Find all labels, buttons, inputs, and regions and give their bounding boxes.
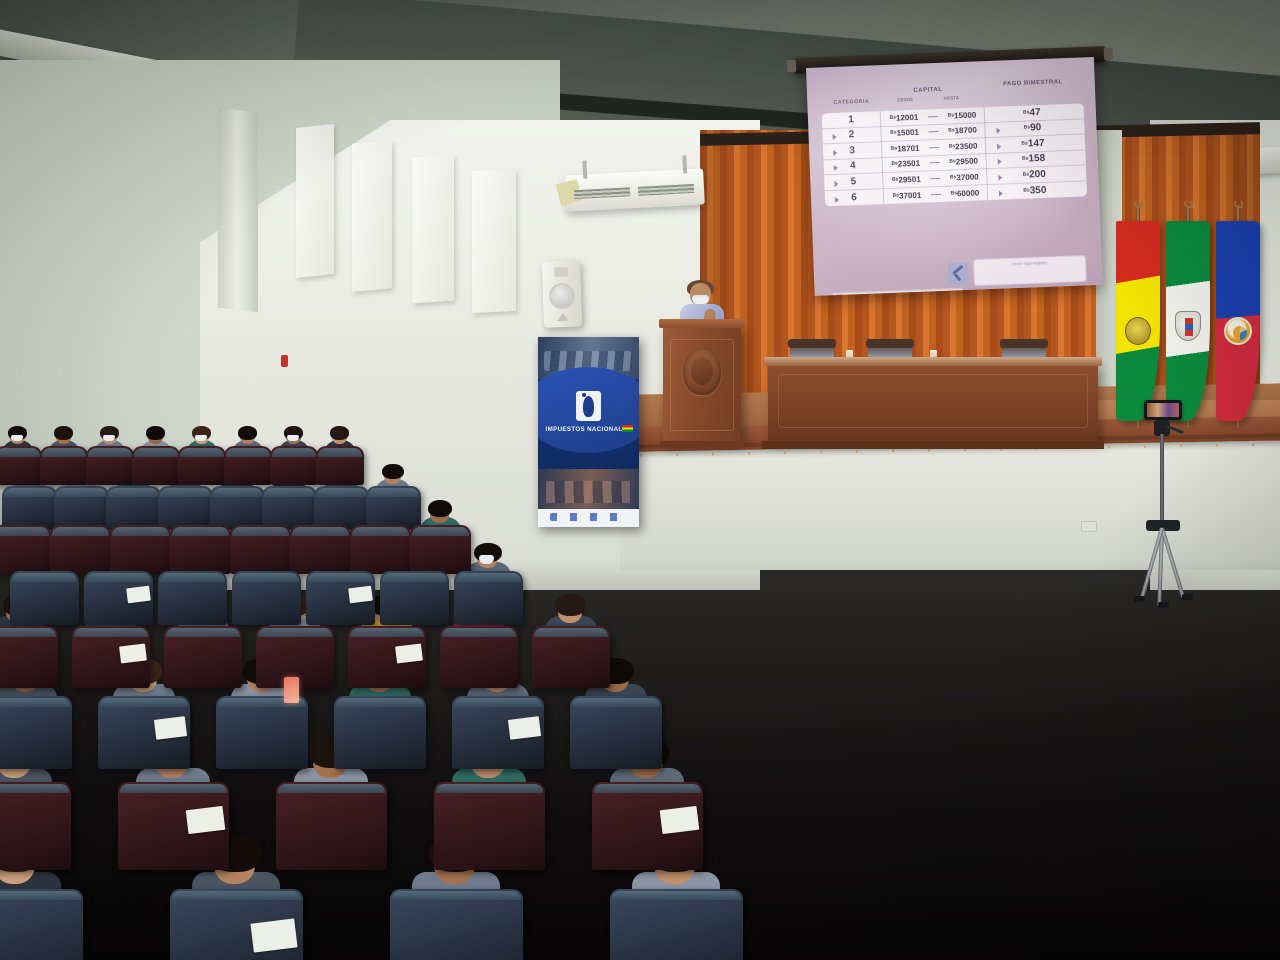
range-dash <box>929 147 939 148</box>
seat-headrest-trim <box>172 891 301 900</box>
seat-headrest-trim <box>232 527 289 536</box>
tripod-leg-1 <box>1160 527 1185 597</box>
seat-headrest-trim <box>456 573 521 582</box>
seat-headrest-trim <box>316 488 367 497</box>
auditorium-seat[interactable] <box>270 446 318 484</box>
seat-headrest-trim <box>454 698 542 707</box>
banner-photo-bottom <box>538 469 639 511</box>
seat-headrest-trim <box>172 527 229 536</box>
header-desde: DESDE <box>883 96 927 103</box>
roller-cap-right <box>1104 48 1113 60</box>
cell-categoria: 2 <box>822 128 880 141</box>
seat-headrest-trim <box>160 488 211 497</box>
auditorium-seat[interactable] <box>86 446 134 484</box>
banner-footer-logos <box>550 513 628 521</box>
cell-hasta: Bs23500 <box>939 141 987 152</box>
speaker-cone <box>549 283 576 310</box>
auditorium-seat[interactable] <box>570 696 662 769</box>
seat-headrest-trim <box>0 784 69 793</box>
auditorium-seat[interactable] <box>316 446 364 484</box>
seat-headrest-trim <box>112 527 169 536</box>
cell-categoria: 5 <box>824 175 882 188</box>
arrow-icon <box>833 150 837 156</box>
range-dash <box>930 162 940 163</box>
seat-headrest-trim <box>42 448 86 457</box>
arrow-icon <box>834 165 838 171</box>
flag-hook-3 <box>1234 199 1243 208</box>
speaker-horn <box>554 267 568 277</box>
seat-headrest-trim <box>166 628 240 637</box>
person-hair <box>238 426 257 440</box>
cell-hasta: Bs29500 <box>940 156 988 167</box>
range-dash <box>931 194 941 195</box>
seat-headrest-trim <box>612 891 741 900</box>
cell-pago: Bs158 <box>987 152 1079 167</box>
seat-headrest-trim <box>180 448 224 457</box>
cell-desde: Bs37001 <box>883 190 931 201</box>
auditorium-seat[interactable] <box>158 486 213 529</box>
head-table <box>768 364 1098 442</box>
auditorium-seat[interactable] <box>0 889 83 960</box>
seat-headrest-trim <box>278 784 385 793</box>
seat-headrest-trim <box>352 527 409 536</box>
face-mask-icon <box>287 435 298 441</box>
auditorium-seat[interactable] <box>232 571 301 626</box>
flag-university <box>1216 221 1260 421</box>
cell-pago: Bs47 <box>986 105 1078 120</box>
seat-headrest-trim <box>12 573 77 582</box>
acoustic-panel-1 <box>296 124 334 278</box>
cell-categoria: 4 <box>824 159 882 172</box>
seat-headrest-trim <box>160 573 225 582</box>
wall-pa-speaker <box>542 260 582 327</box>
arrow-icon <box>996 128 1000 134</box>
seat-headrest-trim <box>56 488 107 497</box>
notebook-paper <box>185 806 225 834</box>
lit-smartphone <box>284 677 299 703</box>
notebook-paper <box>395 643 423 663</box>
auditorium-seat[interactable] <box>110 525 171 573</box>
cell-categoria: 3 <box>823 144 881 157</box>
head-table-top <box>764 357 1102 366</box>
seat-headrest-trim <box>572 698 660 707</box>
acoustic-panel-2 <box>352 140 392 291</box>
auditorium-seat[interactable] <box>10 571 79 626</box>
seat-headrest-trim <box>86 573 151 582</box>
seat-headrest-trim <box>88 448 132 457</box>
wall-air-conditioner <box>565 168 705 211</box>
seat-headrest-trim <box>594 784 701 793</box>
recording-smartphone[interactable] <box>1144 400 1182 420</box>
seat-headrest-trim <box>100 698 188 707</box>
seat-headrest-trim <box>436 784 543 793</box>
notebook-paper <box>508 716 541 740</box>
auditorium-seat[interactable] <box>290 525 351 573</box>
wooden-podium <box>663 325 741 443</box>
legal-note: (texto legal ilegible) <box>973 255 1086 285</box>
in-logo-icon <box>576 391 601 421</box>
person-hair <box>382 464 404 479</box>
camera-tripod[interactable] <box>1126 400 1206 600</box>
seat-headrest-trim <box>120 784 227 793</box>
arrow-icon <box>998 159 1002 165</box>
cell-desde: Bs12001 <box>880 112 928 123</box>
seat-headrest-trim <box>52 527 109 536</box>
notebook-paper <box>126 586 151 604</box>
seat-headrest-trim <box>74 628 148 637</box>
auditorium-seat[interactable] <box>210 486 265 529</box>
podium-top-surface <box>659 319 745 328</box>
arrow-icon <box>997 143 1001 149</box>
auditorium-seat[interactable] <box>164 626 242 688</box>
cell-categoria: 6 <box>825 191 883 204</box>
arrow-icon <box>834 181 838 187</box>
seat-headrest-trim <box>292 527 349 536</box>
seat-headrest-trim <box>368 488 419 497</box>
notebook-paper <box>154 716 187 740</box>
seat-headrest-trim <box>412 527 469 536</box>
range-dash <box>929 131 939 132</box>
seat-headrest-trim <box>264 488 315 497</box>
seat-headrest-trim <box>0 448 40 457</box>
auditorium-seat[interactable] <box>276 782 387 870</box>
auditorium-seat[interactable] <box>0 446 42 484</box>
roller-cap-left <box>787 60 796 72</box>
tripod-foot-1 <box>1134 596 1145 602</box>
wall-outlet <box>1081 521 1097 532</box>
head-table-base <box>762 441 1104 449</box>
ac-vent-right <box>638 184 694 196</box>
seat-headrest-trim <box>308 573 373 582</box>
projected-slide: CATEGORIA CAPITAL DESDE HASTA PAGO BIMES… <box>817 77 1091 237</box>
bolivia-flag-badge <box>622 425 633 432</box>
seat-headrest-trim <box>0 527 49 536</box>
ac-vent-left <box>574 187 630 199</box>
flag-hook-2 <box>1184 199 1193 208</box>
seat-headrest-trim <box>4 488 55 497</box>
cell-categoria: 1 <box>822 113 880 126</box>
face-mask-icon <box>195 435 206 441</box>
auditorium-seat[interactable] <box>366 486 421 529</box>
acoustic-panel-3 <box>412 155 454 304</box>
range-dash <box>928 116 938 117</box>
cell-pago: Bs90 <box>986 121 1078 136</box>
tripod-foot-2 <box>1182 594 1193 600</box>
seat-headrest-trim <box>226 448 270 457</box>
seat-headrest-trim <box>272 448 316 457</box>
person-hair <box>146 426 165 440</box>
notebook-paper <box>659 806 699 834</box>
person-hair <box>54 426 73 440</box>
cell-desde: Bs15001 <box>880 128 928 139</box>
wall-column <box>218 108 258 313</box>
auditorium-seat[interactable] <box>158 571 227 626</box>
face-mask-icon <box>11 435 22 441</box>
cell-pago: Bs350 <box>989 183 1081 198</box>
seat-headrest-trim <box>108 488 159 497</box>
person-hair <box>330 426 349 440</box>
seat-headrest-trim <box>350 628 424 637</box>
auditorium-seat[interactable] <box>380 571 449 626</box>
tripod-foot-3 <box>1158 602 1169 608</box>
seat-headrest-trim <box>134 448 178 457</box>
cell-hasta: Bs15000 <box>938 110 986 121</box>
cell-desde: Bs29501 <box>882 174 930 185</box>
gavel-icon <box>948 262 969 285</box>
cell-hasta: Bs60000 <box>941 188 989 199</box>
red-sensor <box>281 355 288 367</box>
cell-pago: Bs200 <box>988 167 1080 182</box>
seat-headrest-trim <box>336 698 424 707</box>
slide-table: 1Bs12001Bs15000Bs472Bs15001Bs18700Bs903B… <box>822 103 1087 206</box>
auditorium-seat[interactable] <box>0 782 71 870</box>
auditorium-seat[interactable] <box>132 446 180 484</box>
seat-headrest-trim <box>534 628 608 637</box>
auditorium-seat[interactable] <box>106 486 161 529</box>
ac-bracket-left <box>582 161 587 179</box>
auditorium-seat[interactable] <box>334 696 426 769</box>
auditorium-seat[interactable] <box>434 782 545 870</box>
auditorium-seat[interactable] <box>40 446 88 484</box>
cell-desde: Bs18701 <box>881 143 929 154</box>
header-hasta: HASTA <box>929 95 973 102</box>
flag-hook-1 <box>1134 199 1143 208</box>
auditorium-seat[interactable] <box>390 889 523 960</box>
bolivia-coat-of-arms-icon <box>1125 317 1151 345</box>
auditorium-seat[interactable] <box>2 486 57 529</box>
seat-headrest-trim <box>318 448 362 457</box>
seat-headrest-trim <box>0 628 56 637</box>
flag-bolivia <box>1116 221 1160 421</box>
auditorium-seat[interactable] <box>262 486 317 529</box>
seat-headrest-trim <box>212 488 263 497</box>
speaker-tweeter <box>557 313 569 321</box>
arrow-icon <box>998 174 1002 180</box>
podium-crest-icon <box>683 347 721 395</box>
header-capital: CAPITAL <box>881 86 975 96</box>
banner-footer <box>538 509 639 527</box>
phone-screen <box>1147 403 1179 417</box>
auditorium-photo: CATEGORIA CAPITAL DESDE HASTA PAGO BIMES… <box>0 0 1280 960</box>
header-categoria: CATEGORIA <box>823 98 879 106</box>
auditorium-seat[interactable] <box>216 696 308 769</box>
notebook-paper <box>251 918 298 952</box>
auditorium-seat[interactable] <box>54 486 109 529</box>
auditorium-seat[interactable] <box>0 525 51 573</box>
auditorium-seat[interactable] <box>350 525 411 573</box>
seat-headrest-trim <box>234 573 299 582</box>
arrow-icon <box>833 134 837 140</box>
auditorium-seat[interactable] <box>410 525 471 573</box>
seat-headrest-trim <box>0 698 70 707</box>
santa-cruz-crest-icon <box>1175 311 1201 341</box>
arrow-icon <box>999 190 1003 196</box>
auditorium-seat[interactable] <box>0 626 58 688</box>
tripod-column <box>1160 434 1164 524</box>
auditorium-seat[interactable] <box>610 889 743 960</box>
seat-headrest-trim <box>258 628 332 637</box>
seat-headrest-trim <box>0 891 81 900</box>
rollup-banner: IMPUESTOS NACIONALES <box>538 337 639 527</box>
auditorium-seat[interactable] <box>178 446 226 484</box>
cell-hasta: Bs18700 <box>938 125 986 136</box>
notebook-paper <box>348 586 373 604</box>
arrow-icon <box>835 197 839 203</box>
auditorium-seat[interactable] <box>454 571 523 626</box>
auditorium-seat[interactable] <box>314 486 369 529</box>
seat-headrest-trim <box>392 891 521 900</box>
auditorium-seat[interactable] <box>50 525 111 573</box>
projection-screen: CATEGORIA CAPITAL DESDE HASTA PAGO BIMES… <box>806 57 1103 296</box>
person-hair <box>428 500 452 517</box>
acoustic-panel-4 <box>472 169 516 313</box>
auditorium-seat[interactable] <box>170 525 231 573</box>
auditorium-seat[interactable] <box>532 626 610 688</box>
auditorium-seat[interactable] <box>230 525 291 573</box>
auditorium-seat[interactable] <box>0 696 72 769</box>
auditorium-seat[interactable] <box>224 446 272 484</box>
podium-base <box>660 441 744 448</box>
range-dash <box>930 178 940 179</box>
cell-pago: Bs147 <box>987 136 1079 151</box>
notebook-paper <box>119 643 147 663</box>
seat-headrest-trim <box>442 628 516 637</box>
university-emblem-icon <box>1224 317 1252 345</box>
seat-headrest-trim <box>382 573 447 582</box>
cell-hasta: Bs37000 <box>940 172 988 183</box>
person-hair <box>555 594 586 616</box>
auditorium-seat[interactable] <box>440 626 518 688</box>
flag-santa-cruz <box>1166 221 1210 421</box>
cell-desde: Bs23501 <box>882 159 930 170</box>
head-table-panel <box>778 374 1088 428</box>
face-mask-icon <box>103 435 114 441</box>
